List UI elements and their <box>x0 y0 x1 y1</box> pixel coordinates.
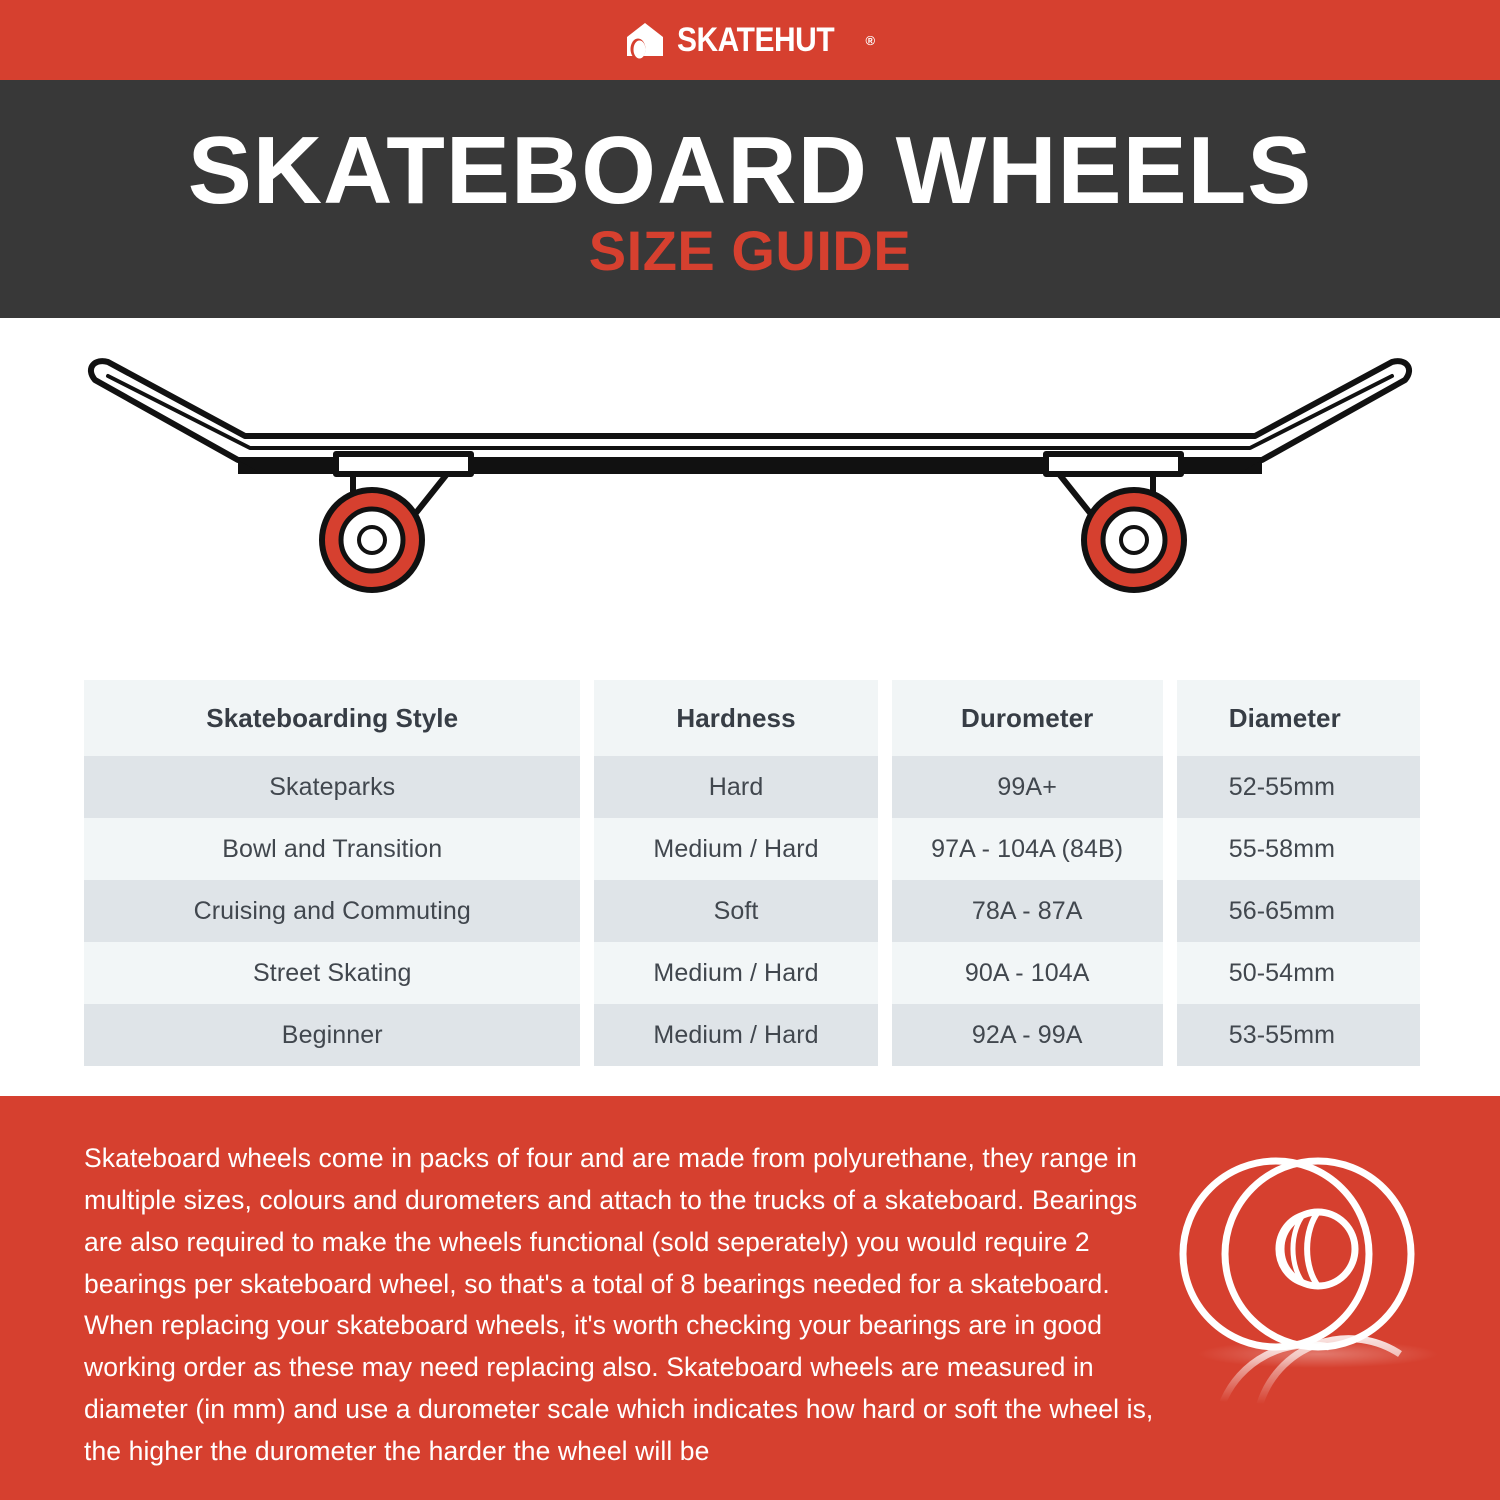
table-row: 50-54mm <box>1177 942 1420 1004</box>
table-row: Medium / Hard <box>594 942 877 1004</box>
brand-bar: SKATEHUT ® <box>0 0 1500 80</box>
table-row: Beginner <box>84 1004 580 1066</box>
table-row: Street Skating <box>84 942 580 1004</box>
table-row: Cruising and Commuting <box>84 880 580 942</box>
page-subtitle: SIZE GUIDE <box>589 223 911 279</box>
table-row: Medium / Hard <box>594 818 877 880</box>
table-row: 97A - 104A (84B) <box>892 818 1163 880</box>
table-row: Hard <box>594 756 877 818</box>
table-row: 55-58mm <box>1177 818 1420 880</box>
table-row: Bowl and Transition <box>84 818 580 880</box>
table-column-style: Skateboarding Style Skateparks Bowl and … <box>84 680 580 1066</box>
skateboard-wheel-outline-icon <box>1168 1132 1468 1462</box>
table-column-durometer: Durometer 99A+ 97A - 104A (84B) 78A - 87… <box>892 680 1163 1066</box>
page-title: SKATEBOARD WHEELS <box>188 125 1313 217</box>
brand-name: SKATEHUT <box>677 21 834 60</box>
title-band: SKATEBOARD WHEELS SIZE GUIDE <box>0 80 1500 318</box>
table-row: 99A+ <box>892 756 1163 818</box>
footer-paragraph: Skateboard wheels come in packs of four … <box>84 1138 1159 1473</box>
table-row: Soft <box>594 880 877 942</box>
table-row: 56-65mm <box>1177 880 1420 942</box>
table-row: 78A - 87A <box>892 880 1163 942</box>
hut-logo-icon <box>625 20 667 60</box>
footer-panel: Skateboard wheels come in packs of four … <box>0 1096 1500 1500</box>
registered-mark: ® <box>866 33 876 48</box>
table-column-diameter: Diameter 52-55mm 55-58mm 56-65mm 50-54mm… <box>1177 680 1420 1066</box>
column-header-hardness: Hardness <box>594 680 877 756</box>
column-header-durometer: Durometer <box>892 680 1163 756</box>
brand-logo[interactable]: SKATEHUT ® <box>625 20 875 60</box>
column-header-style: Skateboarding Style <box>84 680 580 756</box>
table-row: 90A - 104A <box>892 942 1163 1004</box>
infographic-page: SKATEHUT ® SKATEBOARD WHEELS SIZE GUIDE <box>0 0 1500 1500</box>
table-row: 92A - 99A <box>892 1004 1163 1066</box>
table-row: 52-55mm <box>1177 756 1420 818</box>
table-row: 53-55mm <box>1177 1004 1420 1066</box>
table-column-hardness: Hardness Hard Medium / Hard Soft Medium … <box>594 680 877 1066</box>
skateboard-illustration <box>0 318 1500 668</box>
table-row: Medium / Hard <box>594 1004 877 1066</box>
column-header-diameter: Diameter <box>1177 680 1420 756</box>
table-row: Skateparks <box>84 756 580 818</box>
wheel-size-table: Skateboarding Style Skateparks Bowl and … <box>84 680 1420 1066</box>
